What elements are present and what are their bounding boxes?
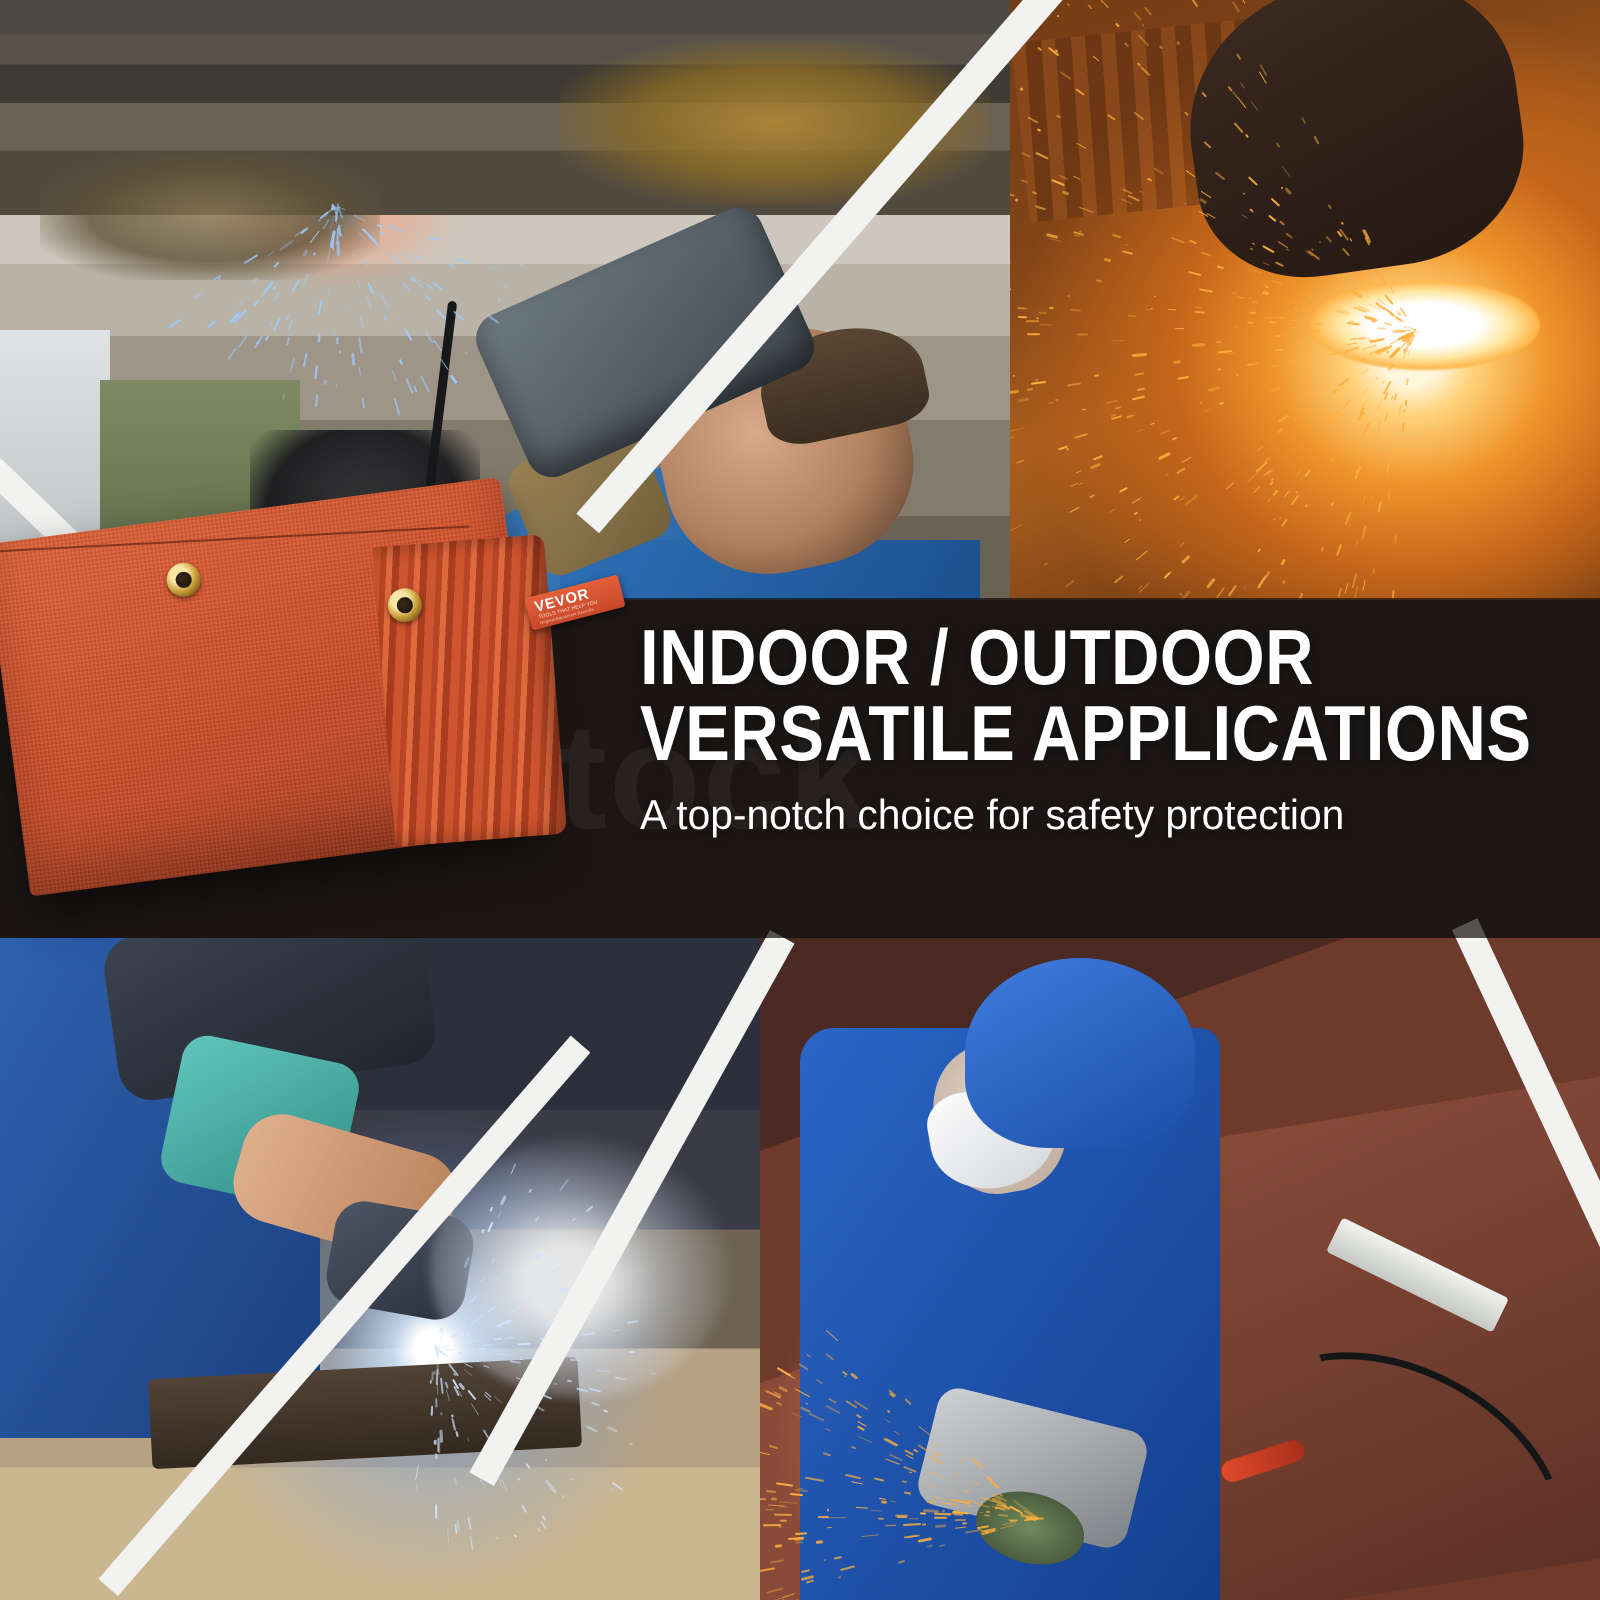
subtitle: A top-notch choice for safety protection (640, 791, 1542, 839)
headline-line-1: INDOOR / OUTDOOR (640, 620, 1440, 696)
product-marketing-banner: Stock INDOOR / OUTDOOR VERSATILE APPLICA… (0, 0, 1600, 1600)
product-welding-blanket: VEVOR TOOLS THAT HELP YOU Original Equip… (0, 469, 612, 941)
exhaust-assembly (40, 150, 380, 280)
headline-block: INDOOR / OUTDOOR VERSATILE APPLICATIONS … (640, 620, 1570, 839)
panel-molten-sparks (1010, 0, 1600, 600)
molten-pool (1310, 280, 1540, 370)
blue-hard-hat (965, 958, 1195, 1148)
headline-line-2: VERSATILE APPLICATIONS (640, 696, 1440, 772)
panel-angle-grinding (760, 938, 1600, 1600)
blanket-folded-edge (372, 534, 567, 847)
molten-ladle (1171, 0, 1538, 292)
